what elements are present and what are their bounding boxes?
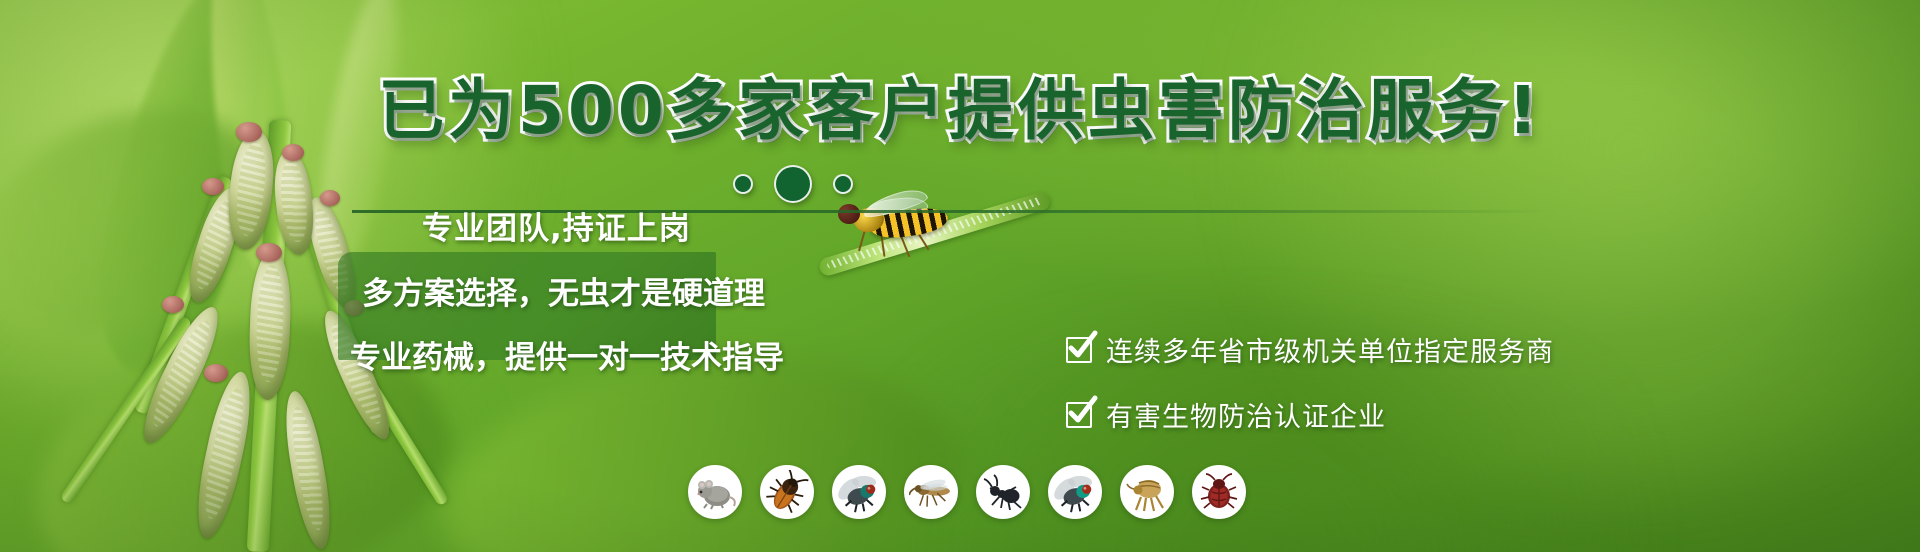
dot-small-right-icon <box>833 174 853 194</box>
divider-rule <box>352 210 1552 213</box>
pest-chip-fly[interactable] <box>832 465 886 519</box>
pest-chip-cockroach[interactable] <box>760 465 814 519</box>
banner-headline: 已为500多家客户提供虫害防治服务! <box>0 78 1920 144</box>
plant-spike-tip <box>204 364 228 382</box>
checklist-item: 有害生物防治认证企业 <box>1066 395 1554 434</box>
rodent-icon <box>693 470 737 514</box>
fly-icon <box>837 470 881 514</box>
plant-spike-tip <box>162 296 184 313</box>
pest-chip-mosquito[interactable] <box>904 465 958 519</box>
checklist-item: 连续多年省市级机关单位指定服务商 <box>1066 330 1554 369</box>
plant-seed-spike <box>278 388 337 551</box>
plant-seed-spike <box>247 249 292 400</box>
blowfly-icon <box>1053 470 1097 514</box>
pest-control-hero-banner: 已为500多家客户提供虫害防治服务! 专业团队,持证上岗 多方案选择，无虫才是硬… <box>0 0 1920 552</box>
banner-headline-text: 已为500多家客户提供虫害防治服务! <box>378 72 1542 149</box>
pest-chip-blowfly[interactable] <box>1048 465 1102 519</box>
plant-spike-tip <box>202 178 224 195</box>
plant-spike-tip <box>256 243 282 262</box>
pest-chip-ant[interactable] <box>976 465 1030 519</box>
pest-chip-rodent[interactable] <box>688 465 742 519</box>
bedbug-icon <box>1197 470 1241 514</box>
checklist-item-label: 连续多年省市级机关单位指定服务商 <box>1106 330 1554 369</box>
decorative-dot-group <box>733 160 853 208</box>
checkbox-checked-icon <box>1066 337 1092 363</box>
checkbox-checked-icon <box>1066 402 1092 428</box>
plant-spike-tip <box>282 144 304 161</box>
credentials-checklist: 连续多年省市级机关单位指定服务商 有害生物防治认证企业 <box>1066 330 1554 434</box>
ant-icon <box>981 470 1025 514</box>
pest-chip-flea[interactable] <box>1120 465 1174 519</box>
checklist-item-label: 有害生物防治认证企业 <box>1106 395 1386 434</box>
pest-type-icon-strip <box>688 465 1246 519</box>
pest-chip-bedbug[interactable] <box>1192 465 1246 519</box>
feature-panel-background <box>338 252 716 360</box>
hoverfly-icon <box>840 198 960 258</box>
dot-large-center-icon <box>774 165 812 203</box>
mosquito-icon <box>909 470 953 514</box>
flea-icon <box>1125 470 1169 514</box>
cockroach-icon <box>765 470 809 514</box>
plant-spike-tip <box>320 190 340 206</box>
dot-small-left-icon <box>733 174 753 194</box>
